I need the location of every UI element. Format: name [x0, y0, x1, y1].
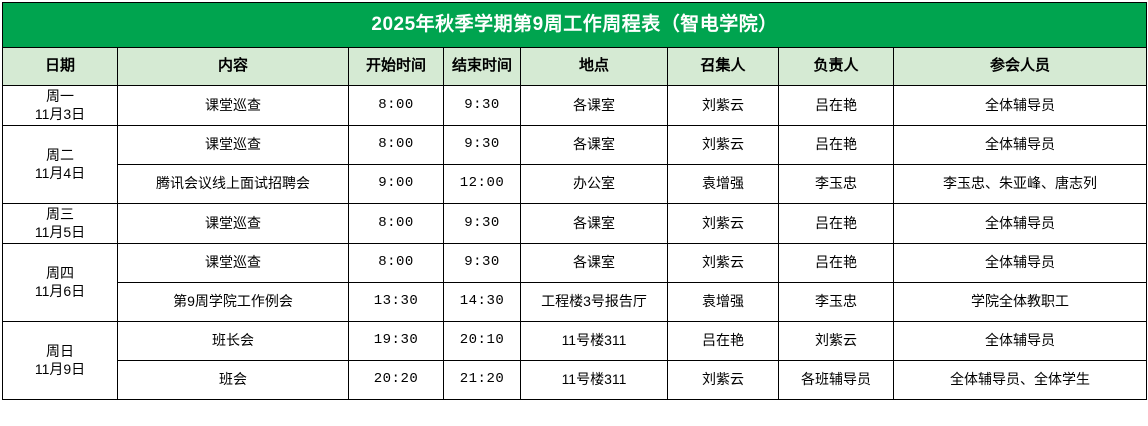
cell-convener: 刘紫云: [668, 126, 779, 165]
date-label: 11月3日: [6, 106, 114, 124]
cell-start: 9:00: [349, 165, 444, 204]
cell-convener: 刘紫云: [668, 244, 779, 283]
cell-content: 课堂巡查: [118, 244, 349, 283]
column-header-end: 结束时间: [444, 48, 521, 86]
cell-attendees: 全体辅导员、全体学生: [894, 361, 1147, 400]
cell-convener: 袁增强: [668, 283, 779, 322]
cell-start: 20:20: [349, 361, 444, 400]
cell-convener: 吕在艳: [668, 322, 779, 361]
cell-content: 腾讯会议线上面试招聘会: [118, 165, 349, 204]
weekday-label: 周四: [6, 265, 114, 283]
cell-content: 课堂巡查: [118, 86, 349, 126]
column-header-place: 地点: [521, 48, 668, 86]
cell-start: 19:30: [349, 322, 444, 361]
cell-end: 9:30: [444, 204, 521, 244]
column-header-row: 日期内容开始时间结束时间地点召集人负责人参会人员: [3, 48, 1147, 86]
date-cell: 周日11月9日: [3, 322, 118, 400]
title-row: 2025年秋季学期第9周工作周程表（智电学院）: [3, 3, 1147, 48]
page-title: 2025年秋季学期第9周工作周程表（智电学院）: [3, 3, 1147, 48]
column-header-attendees: 参会人员: [894, 48, 1147, 86]
cell-start: 8:00: [349, 126, 444, 165]
cell-content: 班会: [118, 361, 349, 400]
column-header-content: 内容: [118, 48, 349, 86]
cell-end: 9:30: [444, 86, 521, 126]
cell-end: 14:30: [444, 283, 521, 322]
weekday-label: 周日: [6, 343, 114, 361]
cell-end: 12:00: [444, 165, 521, 204]
cell-place: 11号楼311: [521, 361, 668, 400]
cell-convener: 刘紫云: [668, 361, 779, 400]
cell-place: 各课室: [521, 204, 668, 244]
cell-owner: 吕在艳: [779, 86, 894, 126]
cell-owner: 吕在艳: [779, 244, 894, 283]
date-cell: 周二11月4日: [3, 126, 118, 204]
cell-place: 办公室: [521, 165, 668, 204]
cell-end: 9:30: [444, 244, 521, 283]
column-header-start: 开始时间: [349, 48, 444, 86]
cell-attendees: 全体辅导员: [894, 126, 1147, 165]
column-header-convener: 召集人: [668, 48, 779, 86]
date-label: 11月9日: [6, 361, 114, 379]
schedule-sheet: 2025年秋季学期第9周工作周程表（智电学院） 日期内容开始时间结束时间地点召集…: [0, 2, 1148, 426]
column-header-date: 日期: [3, 48, 118, 86]
table-row: 周二11月4日课堂巡查8:009:30各课室刘紫云吕在艳全体辅导员: [3, 126, 1147, 165]
cell-attendees: 全体辅导员: [894, 86, 1147, 126]
cell-owner: 刘紫云: [779, 322, 894, 361]
weekday-label: 周二: [6, 147, 114, 165]
cell-owner: 李玉忠: [779, 283, 894, 322]
cell-owner: 吕在艳: [779, 126, 894, 165]
cell-owner: 吕在艳: [779, 204, 894, 244]
cell-end: 20:10: [444, 322, 521, 361]
weekday-label: 周三: [6, 206, 114, 224]
table-row: 周四11月6日课堂巡查8:009:30各课室刘紫云吕在艳全体辅导员: [3, 244, 1147, 283]
cell-content: 班长会: [118, 322, 349, 361]
cell-attendees: 全体辅导员: [894, 322, 1147, 361]
cell-attendees: 李玉忠、朱亚峰、唐志列: [894, 165, 1147, 204]
weekly-schedule-table: 2025年秋季学期第9周工作周程表（智电学院） 日期内容开始时间结束时间地点召集…: [2, 2, 1147, 400]
cell-attendees: 学院全体教职工: [894, 283, 1147, 322]
table-row: 周三11月5日课堂巡查8:009:30各课室刘紫云吕在艳全体辅导员: [3, 204, 1147, 244]
cell-content: 第9周学院工作例会: [118, 283, 349, 322]
table-row: 第9周学院工作例会13:3014:30工程楼3号报告厅袁增强李玉忠学院全体教职工: [3, 283, 1147, 322]
table-head: 2025年秋季学期第9周工作周程表（智电学院） 日期内容开始时间结束时间地点召集…: [3, 3, 1147, 86]
cell-place: 工程楼3号报告厅: [521, 283, 668, 322]
date-label: 11月6日: [6, 283, 114, 301]
table-row: 腾讯会议线上面试招聘会9:0012:00办公室袁增强李玉忠李玉忠、朱亚峰、唐志列: [3, 165, 1147, 204]
cell-end: 21:20: [444, 361, 521, 400]
cell-start: 8:00: [349, 244, 444, 283]
cell-place: 11号楼311: [521, 322, 668, 361]
table-row: 班会20:2021:2011号楼311刘紫云各班辅导员全体辅导员、全体学生: [3, 361, 1147, 400]
cell-start: 8:00: [349, 204, 444, 244]
column-header-owner: 负责人: [779, 48, 894, 86]
cell-place: 各课室: [521, 126, 668, 165]
date-cell: 周三11月5日: [3, 204, 118, 244]
cell-owner: 李玉忠: [779, 165, 894, 204]
table-body: 周一11月3日课堂巡查8:009:30各课室刘紫云吕在艳全体辅导员周二11月4日…: [3, 86, 1147, 400]
cell-end: 9:30: [444, 126, 521, 165]
table-row: 周一11月3日课堂巡查8:009:30各课室刘紫云吕在艳全体辅导员: [3, 86, 1147, 126]
cell-start: 8:00: [349, 86, 444, 126]
cell-place: 各课室: [521, 86, 668, 126]
date-cell: 周一11月3日: [3, 86, 118, 126]
date-label: 11月5日: [6, 224, 114, 242]
cell-content: 课堂巡查: [118, 126, 349, 165]
cell-convener: 刘紫云: [668, 86, 779, 126]
date-label: 11月4日: [6, 165, 114, 183]
cell-content: 课堂巡查: [118, 204, 349, 244]
cell-owner: 各班辅导员: [779, 361, 894, 400]
weekday-label: 周一: [6, 88, 114, 106]
table-row: 周日11月9日班长会19:3020:1011号楼311吕在艳刘紫云全体辅导员: [3, 322, 1147, 361]
cell-start: 13:30: [349, 283, 444, 322]
cell-convener: 袁增强: [668, 165, 779, 204]
date-cell: 周四11月6日: [3, 244, 118, 322]
cell-attendees: 全体辅导员: [894, 204, 1147, 244]
cell-attendees: 全体辅导员: [894, 244, 1147, 283]
cell-convener: 刘紫云: [668, 204, 779, 244]
cell-place: 各课室: [521, 244, 668, 283]
